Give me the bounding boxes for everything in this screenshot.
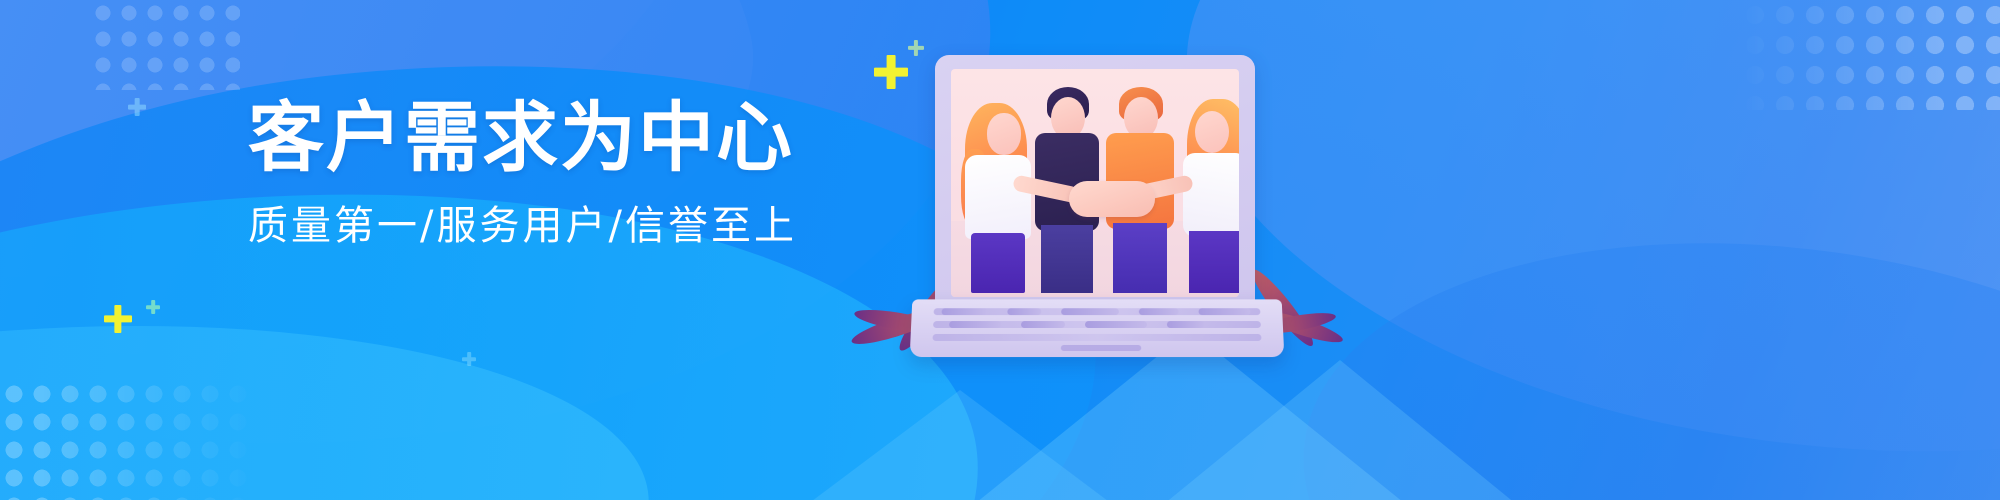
keyboard-key-4 (1139, 308, 1179, 315)
dot-grid-bottom-left (0, 380, 260, 500)
banner-headline: 客户需求为中心 (248, 100, 868, 176)
dot-grid-top-left (90, 0, 240, 90)
laptop-trackpad (1061, 345, 1141, 351)
person-4-blouse (1183, 153, 1239, 237)
chevron-shape-right (1120, 360, 1560, 500)
wave-shape-top-left (0, 0, 1037, 500)
plus-yellow-large-icon (874, 55, 908, 89)
wave-shape-bottom-left-inner (0, 287, 663, 500)
laptop-lid (935, 55, 1255, 305)
plus-green-small-icon (908, 40, 924, 56)
wave-shape-right-lower (1269, 183, 2000, 500)
plus-yellow-small-icon (104, 305, 132, 333)
keyboard-key-7 (1021, 321, 1065, 328)
person-1-jacket (965, 155, 1031, 239)
promo-banner: 客户需求为中心 质量第一/服务用户/信誉至上 (0, 0, 2000, 500)
person-3-pants (1113, 223, 1167, 293)
banner-subheadline: 质量第一/服务用户/信誉至上 (248, 206, 868, 246)
keyboard-key-1 (942, 308, 988, 315)
person-4-pants (1189, 231, 1239, 293)
keyboard-key-3 (1061, 308, 1119, 315)
stacked-hands (1069, 181, 1155, 217)
person-1-pants (971, 233, 1025, 293)
person-2-pants (1041, 225, 1093, 293)
plus-cyan-tiny-icon (462, 352, 476, 366)
keyboard-key-8 (1085, 321, 1147, 328)
person-figure-1 (957, 97, 1039, 293)
chevron-shape-left (760, 390, 1160, 500)
keyboard-key-6 (949, 321, 1001, 328)
keyboard-row-3 (932, 334, 1261, 341)
plus-cyan-faint-icon (128, 98, 146, 116)
dot-grid-top-right (1740, 0, 2000, 110)
person-figure-4 (1173, 95, 1239, 293)
laptop-screen (951, 69, 1239, 297)
plus-cyan-small-icon (146, 300, 160, 314)
keyboard-key-5 (1198, 308, 1250, 315)
person-1-head (987, 113, 1021, 155)
banner-text-block: 客户需求为中心 质量第一/服务用户/信誉至上 (248, 100, 868, 246)
laptop-team-illustration (905, 55, 1305, 355)
laptop-keyboard-base (910, 299, 1285, 357)
person-4-head (1195, 111, 1229, 153)
keyboard-key-2 (1007, 308, 1041, 315)
keyboard-key-9 (1167, 321, 1205, 328)
